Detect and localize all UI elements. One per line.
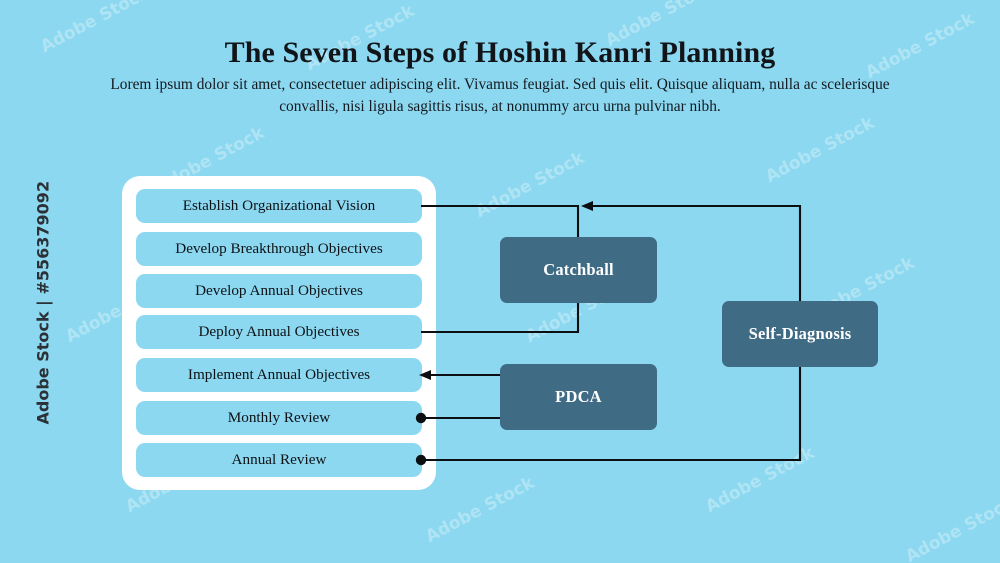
watermark-tile: Adobe Stock — [762, 113, 877, 187]
watermark-tile: Adobe Stock — [422, 473, 537, 547]
step-label: Deploy Annual Objectives — [198, 323, 359, 341]
process-box-label: Self-Diagnosis — [749, 324, 852, 344]
process-box-self-diagnosis[interactable]: Self-Diagnosis — [722, 301, 878, 367]
step-label: Annual Review — [232, 451, 327, 469]
connector-vision-to-catchball — [421, 206, 578, 237]
process-box-label: Catchball — [543, 260, 614, 280]
step-item-5[interactable]: Implement Annual Objectives — [136, 358, 422, 392]
step-item-3[interactable]: Develop Annual Objectives — [136, 274, 422, 308]
process-box-catchball[interactable]: Catchball — [500, 237, 657, 303]
step-label: Develop Annual Objectives — [195, 282, 363, 300]
step-label: Establish Organizational Vision — [183, 197, 376, 215]
step-item-4[interactable]: Deploy Annual Objectives — [136, 315, 422, 349]
step-item-1[interactable]: Establish Organizational Vision — [136, 189, 422, 223]
watermark-tile: Adobe Stock — [902, 493, 1000, 563]
process-box-pdca[interactable]: PDCA — [500, 364, 657, 430]
step-item-6[interactable]: Monthly Review — [136, 401, 422, 435]
watermark-tile: Adobe Stock — [702, 443, 817, 517]
step-label: Develop Breakthrough Objectives — [175, 240, 383, 258]
page-title: The Seven Steps of Hoshin Kanri Planning — [0, 36, 1000, 69]
step-label: Monthly Review — [228, 409, 331, 427]
step-label: Implement Annual Objectives — [188, 366, 370, 384]
step-item-7[interactable]: Annual Review — [136, 443, 422, 477]
process-box-label: PDCA — [555, 387, 602, 407]
arrow-head-vision-return — [581, 201, 593, 211]
watermark-tile: Adobe Stock — [472, 148, 587, 222]
stock-watermark-label: Adobe Stock | #556379092 — [34, 195, 53, 425]
step-item-2[interactable]: Develop Breakthrough Objectives — [136, 232, 422, 266]
infographic-canvas: Adobe Stock Adobe Stock Adobe Stock Adob… — [0, 0, 1000, 563]
page-subtitle: Lorem ipsum dolor sit amet, consectetuer… — [100, 74, 900, 118]
connector-deploy-to-catchball — [421, 303, 578, 332]
